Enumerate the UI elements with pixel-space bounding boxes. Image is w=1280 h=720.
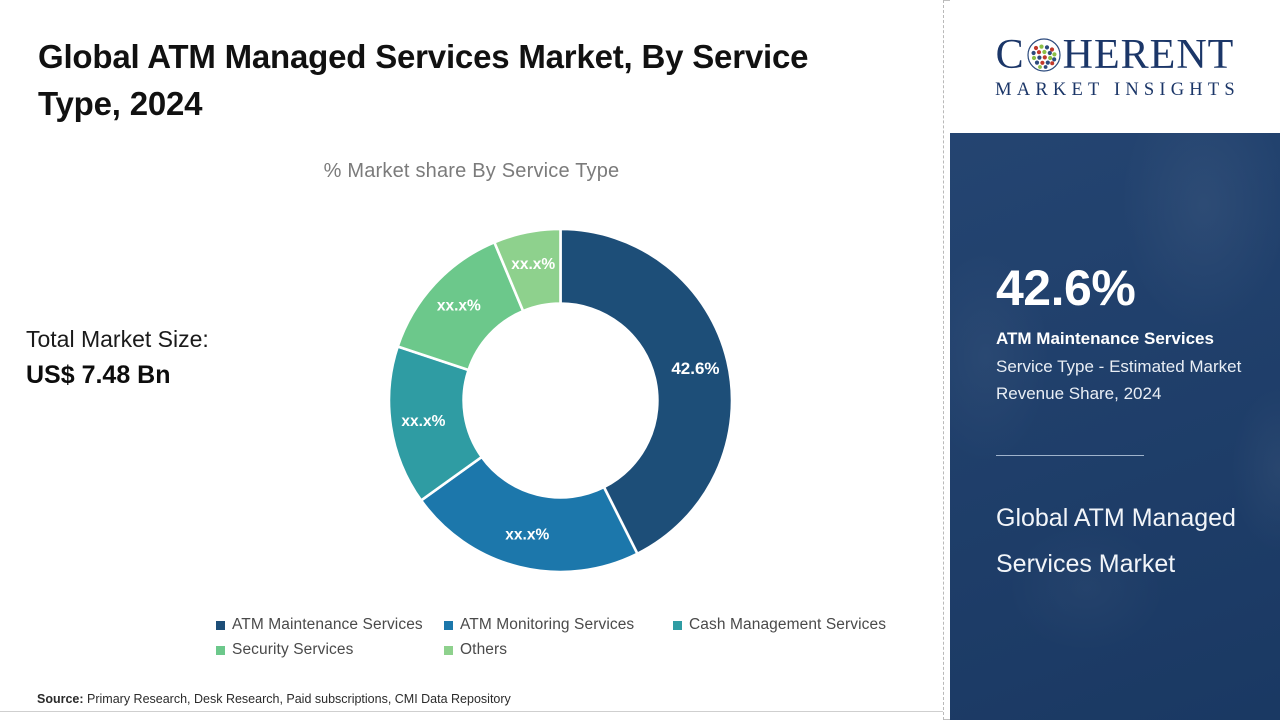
globe-icon bbox=[1026, 37, 1062, 73]
legend-label: ATM Monitoring Services bbox=[460, 616, 634, 634]
legend-swatch-icon bbox=[216, 621, 225, 630]
chart-legend: ATM Maintenance Services ATM Monitoring … bbox=[216, 616, 926, 666]
legend-item-atm-maintenance-services[interactable]: ATM Maintenance Services bbox=[216, 616, 444, 634]
legend-item-security-services[interactable]: Security Services bbox=[216, 641, 444, 659]
source-note: Source: Primary Research, Desk Research,… bbox=[37, 692, 511, 706]
infographic-page: Global ATM Managed Services Market, By S… bbox=[0, 0, 1280, 720]
brand-panel: C bbox=[950, 0, 1280, 720]
donut-slice-label: 42.6% bbox=[671, 359, 719, 378]
donut-slice-label: xx.x% bbox=[437, 298, 481, 315]
legend-swatch-icon bbox=[444, 621, 453, 630]
stat-description-rest: Service Type - Estimated Market Revenue … bbox=[996, 357, 1241, 404]
legend-row-2: Security Services Others bbox=[216, 641, 926, 659]
logo-wordmark-rest: HERENT bbox=[1063, 34, 1235, 76]
donut-chart: 42.6%xx.x%xx.x%xx.x%xx.x% bbox=[388, 228, 733, 573]
highlight-stat: 42.6% ATM Maintenance Services Service T… bbox=[996, 263, 1246, 408]
legend-swatch-icon bbox=[444, 646, 453, 655]
logo-letter-c: C bbox=[996, 34, 1025, 76]
logo-wordmark: C bbox=[990, 34, 1240, 76]
legend-item-others[interactable]: Others bbox=[444, 641, 673, 659]
donut-chart-svg: 42.6%xx.x%xx.x%xx.x%xx.x% bbox=[388, 228, 733, 573]
footer-divider bbox=[0, 711, 943, 712]
legend-label: ATM Maintenance Services bbox=[232, 616, 423, 634]
donut-slice-label: xx.x% bbox=[401, 413, 445, 430]
total-market-size-block: Total Market Size: US$ 7.48 Bn bbox=[26, 322, 346, 394]
legend-label: Security Services bbox=[232, 641, 353, 659]
legend-label: Others bbox=[460, 641, 507, 659]
chart-subtitle: % Market share By Service Type bbox=[0, 160, 943, 183]
panel-divider bbox=[943, 0, 944, 720]
logo-tagline: MARKET INSIGHTS bbox=[990, 81, 1240, 100]
total-market-size-value: US$ 7.48 Bn bbox=[26, 357, 346, 395]
report-title: Global ATM Managed Services Market bbox=[996, 496, 1248, 587]
stat-description-segment: ATM Maintenance Services bbox=[996, 329, 1214, 348]
donut-slice-label: xx.x% bbox=[505, 527, 549, 544]
legend-label: Cash Management Services bbox=[689, 616, 886, 634]
stat-divider bbox=[996, 455, 1144, 456]
source-text: Primary Research, Desk Research, Paid su… bbox=[84, 692, 511, 706]
chart-panel: Global ATM Managed Services Market, By S… bbox=[0, 0, 943, 720]
legend-row-1: ATM Maintenance Services ATM Monitoring … bbox=[216, 616, 926, 634]
total-market-size-label: Total Market Size: bbox=[26, 322, 346, 357]
stat-description: ATM Maintenance Services Service Type - … bbox=[996, 325, 1246, 408]
legend-swatch-icon bbox=[673, 621, 682, 630]
legend-item-atm-monitoring-services[interactable]: ATM Monitoring Services bbox=[444, 616, 673, 634]
stat-value: 42.6% bbox=[996, 263, 1246, 313]
legend-item-cash-management-services[interactable]: Cash Management Services bbox=[673, 616, 913, 634]
donut-slice-label: xx.x% bbox=[511, 256, 555, 273]
logo: C bbox=[950, 0, 1280, 133]
source-label: Source: bbox=[37, 692, 84, 706]
legend-swatch-icon bbox=[216, 646, 225, 655]
page-title: Global ATM Managed Services Market, By S… bbox=[38, 34, 838, 128]
